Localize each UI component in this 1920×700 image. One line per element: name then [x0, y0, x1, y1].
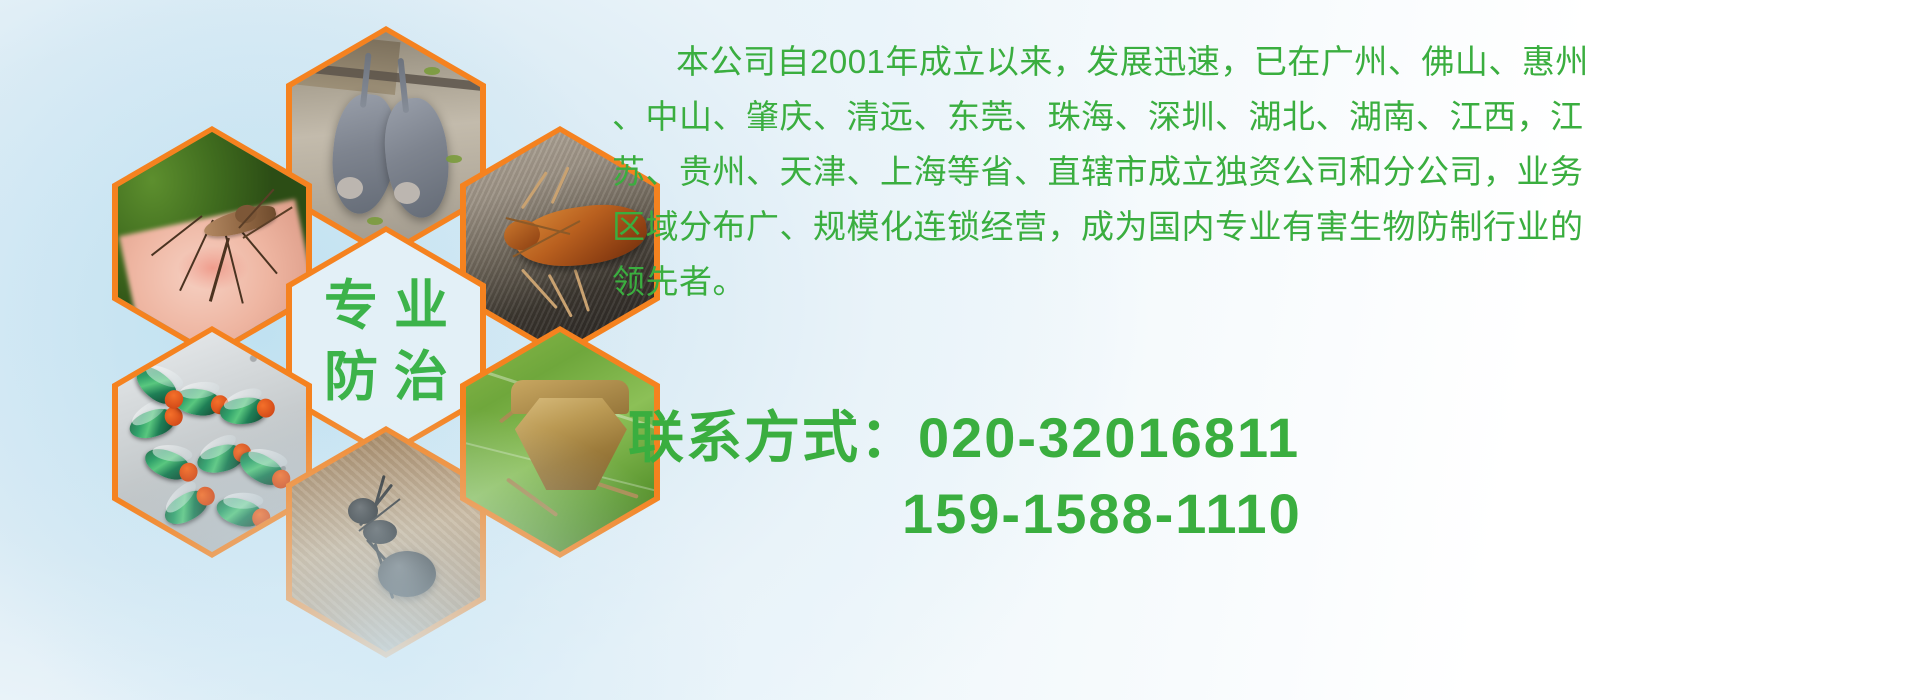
contact-line-secondary[interactable]: 159-1588-1110 — [614, 476, 1904, 552]
promo-banner: 专业 防治 — [0, 0, 1920, 700]
mosquito-photo — [118, 132, 306, 352]
rats-photo-board — [292, 32, 400, 95]
intro-line: 区域分布广、规模化连锁经营，成为国内专业有害生物防制行业的 — [612, 199, 1902, 254]
contact-line-primary[interactable]: 联系方式：020-32016811 — [614, 400, 1904, 476]
rats-photo — [292, 32, 480, 252]
leaf-debris — [424, 67, 440, 75]
hex-cell-mosquito — [112, 126, 312, 358]
intro-line: 、中山、肇庆、清远、东莞、珠海、深圳、湖北、湖南、江西，江 — [612, 89, 1902, 144]
hex-cell-slogan: 专业 防治 — [286, 226, 486, 458]
ant-photo — [292, 432, 480, 652]
intro-paragraph-block: 本公司自2001年成立以来，发展迅速，已在广州、佛山、惠州 、中山、肇庆、清远、… — [612, 34, 1902, 309]
bug-shield — [515, 398, 627, 490]
hex-inner — [292, 432, 480, 652]
hex-inner — [118, 132, 306, 352]
leaf-debris — [367, 217, 383, 225]
hex-inner — [292, 32, 480, 252]
flies-photo — [118, 332, 306, 552]
hex-inner: 专业 防治 — [292, 232, 480, 452]
hexagon-photo-cluster: 专业 防治 — [90, 8, 590, 553]
ant-gaster — [378, 551, 436, 597]
rat-shape — [380, 95, 454, 221]
slogan-text: 专业 防治 — [292, 232, 480, 452]
contact-block: 联系方式：020-32016811 159-1588-1110 — [614, 400, 1904, 552]
intro-line: 苏、贵州、天津、上海等省、直辖市成立独资公司和分公司，业务 — [612, 144, 1902, 199]
hex-cell-flies — [112, 326, 312, 558]
intro-line: 领先者。 — [612, 254, 1902, 309]
slogan-line-1: 专业 — [308, 278, 464, 335]
slogan-line-2: 防治 — [308, 349, 464, 406]
intro-line: 本公司自2001年成立以来，发展迅速，已在广州、佛山、惠州 — [612, 34, 1902, 89]
rat-snout — [394, 182, 420, 204]
leaf-debris — [446, 155, 462, 163]
hex-cell-rats — [286, 26, 486, 258]
hex-inner — [118, 332, 306, 552]
hex-cell-ant — [286, 426, 486, 658]
